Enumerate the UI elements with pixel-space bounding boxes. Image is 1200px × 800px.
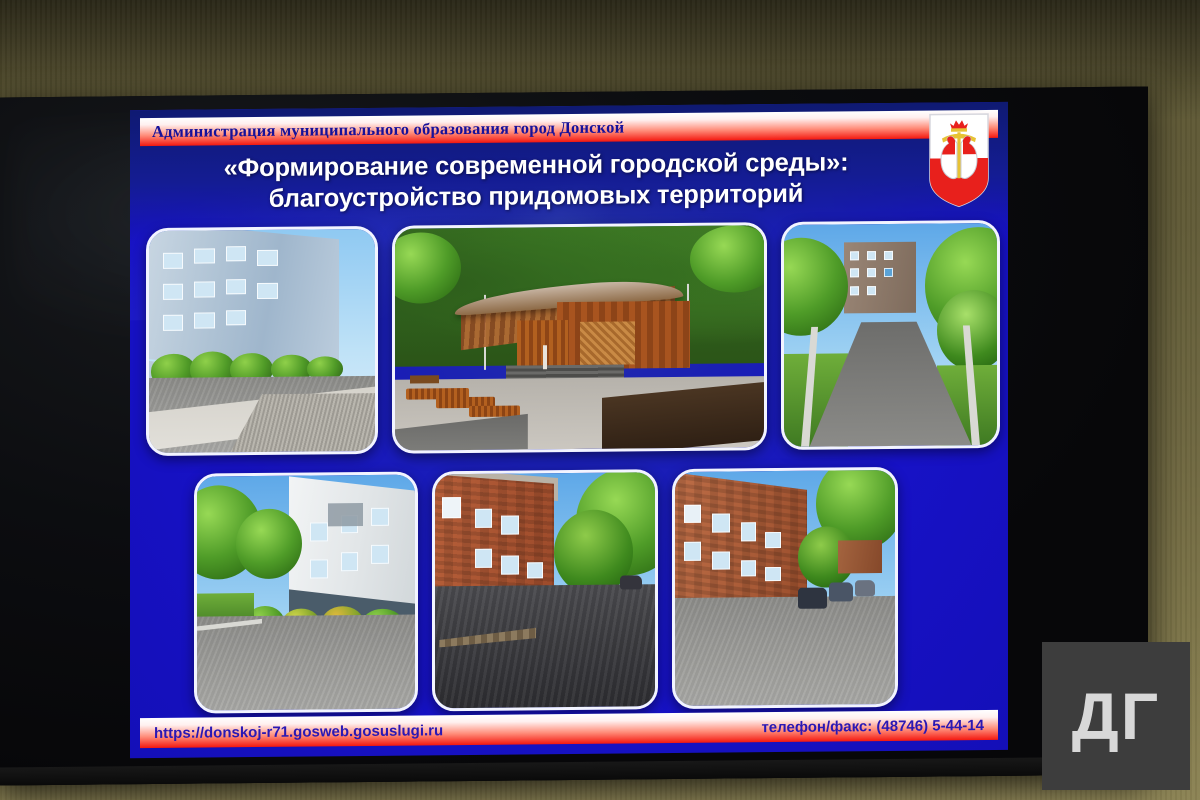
coat-of-arms-icon bbox=[928, 112, 990, 209]
photo-2 bbox=[392, 222, 767, 454]
screen-panel: Администрация муниципального образования… bbox=[0, 86, 1148, 785]
organization-title: Администрация муниципального образования… bbox=[140, 117, 624, 142]
slide-footer-ribbon: https://donskoj-r71.gosweb.gosuslugi.ru … bbox=[140, 710, 998, 748]
photo-5 bbox=[432, 469, 658, 711]
photo-3 bbox=[781, 220, 1000, 450]
slide-title-line-1: «Формирование современной городской сред… bbox=[224, 148, 849, 182]
photo-6 bbox=[672, 467, 898, 709]
presentation-slide: Администрация муниципального образования… bbox=[130, 102, 1008, 758]
photo-grid bbox=[146, 220, 994, 706]
wall-mounted-screen: Администрация муниципального образования… bbox=[0, 86, 1148, 785]
footer-contact: телефон/факс: (48746) 5-44-14 bbox=[761, 717, 984, 736]
watermark-label: ДГ bbox=[1072, 678, 1160, 754]
photo-1 bbox=[146, 226, 378, 456]
photo-row-top bbox=[146, 220, 994, 456]
photo-row-bottom bbox=[146, 466, 994, 714]
photo-4 bbox=[194, 471, 418, 713]
watermark-logo: ДГ bbox=[1042, 642, 1190, 790]
footer-website: https://donskoj-r71.gosweb.gosuslugi.ru bbox=[154, 722, 443, 742]
slide-title: «Формирование современной городской сред… bbox=[160, 147, 912, 216]
